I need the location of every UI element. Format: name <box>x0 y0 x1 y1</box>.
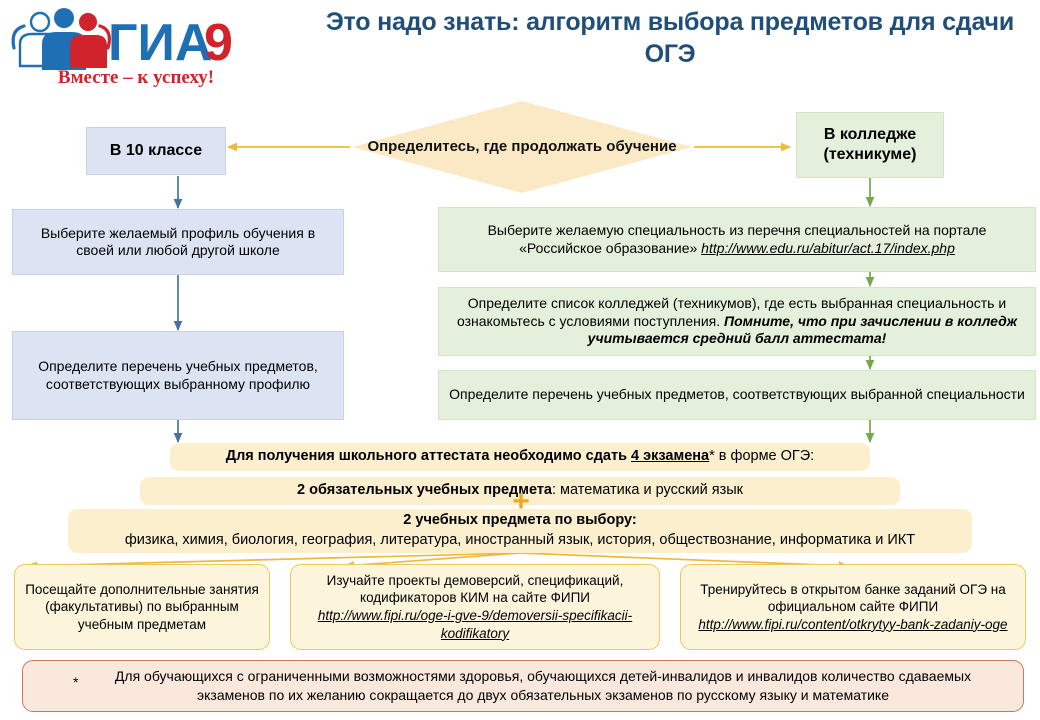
gia9-logo: ГИА 9 Вместе – к успеху! <box>8 4 258 90</box>
fipi-bank-link[interactable]: http://www.fipi.ru/content/otkrytyy-bank… <box>698 616 1007 634</box>
fipi-demoversii-link[interactable]: http://www.fipi.ru/oge-i-gve-9/demoversi… <box>299 607 651 642</box>
action-1-text: Посещайте дополнительные занятия (факуль… <box>23 581 261 634</box>
logo-digit: 9 <box>204 14 233 72</box>
logo-tagline: Вместе – к успеху! <box>58 67 214 88</box>
footnote-text: Для обучающихся с ограниченными возможно… <box>63 667 1005 705</box>
right-branch-step-2: Определите список колледжей (техникумов)… <box>438 287 1036 356</box>
edu-ru-link[interactable]: http://www.edu.ru/abitur/act.17/index.ph… <box>701 240 955 256</box>
left-branch-step-1: Выберите желаемый профиль обучения в сво… <box>12 209 344 275</box>
action-box-1: Посещайте дополнительные занятия (факуль… <box>14 564 270 650</box>
right-step-1-text: Выберите желаемую специальность из переч… <box>447 222 1027 257</box>
decision-label: Определитесь, где продолжать обучение <box>352 101 692 193</box>
footnote-marker: * <box>73 673 78 692</box>
action-2-text: Изучайте проекты демоверсий, спецификаци… <box>299 572 651 607</box>
page-title: Это надо знать: алгоритм выбора предмето… <box>300 6 1040 70</box>
mandatory-list: : математика и русский язык <box>552 482 743 498</box>
left-branch-head: В 10 классе <box>86 127 226 175</box>
elective-title: 2 учебных предмета по выбору: <box>403 511 636 531</box>
footnote-box: * Для обучающихся с ограниченными возмож… <box>22 660 1024 712</box>
action-3-text: Тренируйтесь в открытом банке заданий ОГ… <box>689 581 1017 616</box>
exam-bar-lead: Для получения школьного аттестата необхо… <box>226 448 631 464</box>
infographic-page: ГИА 9 Вместе – к успеху! Это надо знать:… <box>0 0 1040 720</box>
logo-graphic: ГИА 9 Вместе – к успеху! <box>8 4 258 90</box>
elective-list: физика, химия, биология, география, лите… <box>125 531 915 551</box>
elective-subjects-box: 2 учебных предмета по выбору: физика, хи… <box>68 509 972 553</box>
right-branch-step-3: Определите перечень учебных предметов, с… <box>438 370 1036 420</box>
exam-requirement-bar: Для получения школьного аттестата необхо… <box>170 443 870 471</box>
decision-diamond: Определитесь, где продолжать обучение <box>352 101 692 193</box>
exam-bar-tail: в форме ОГЭ: <box>715 448 814 464</box>
action-box-3: Тренируйтесь в открытом банке заданий ОГ… <box>680 564 1026 650</box>
logo-wordmark: ГИА <box>108 14 212 72</box>
left-branch-step-2: Определите перечень учебных предметов, с… <box>12 331 344 420</box>
right-branch-step-1: Выберите желаемую специальность из переч… <box>438 207 1036 272</box>
action-box-2: Изучайте проекты демоверсий, спецификаци… <box>290 564 660 650</box>
right-branch-head: В колледже (техникуме) <box>796 112 944 178</box>
exam-count: 4 экзамена <box>631 448 709 464</box>
right-step-2-text: Определите список колледжей (техникумов)… <box>447 295 1027 347</box>
